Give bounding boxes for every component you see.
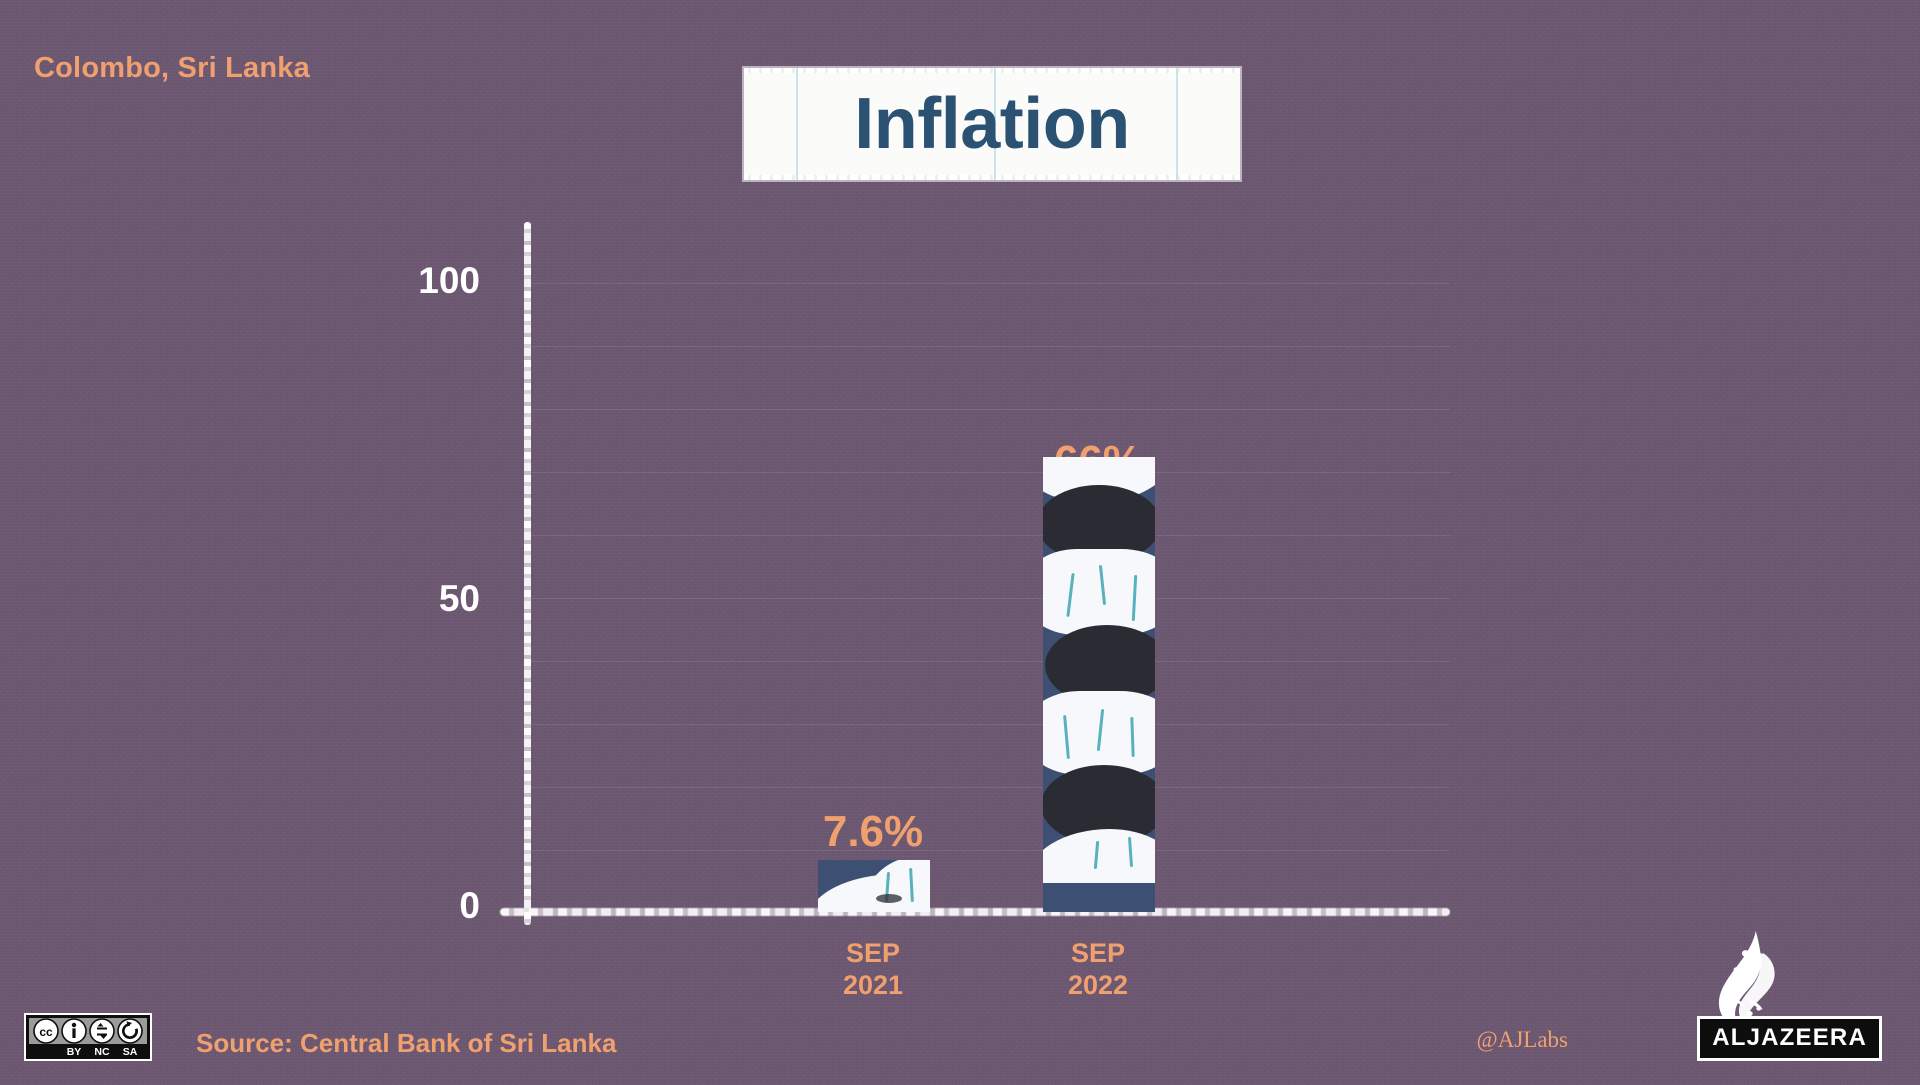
y-axis-tick-50: 50: [360, 578, 480, 620]
social-handle: @AJLabs: [1477, 1027, 1568, 1053]
y-axis-tick-0: 0: [360, 885, 480, 927]
gridline: [530, 535, 1450, 536]
y-axis-line: [524, 222, 531, 925]
svg-text:SA: SA: [123, 1046, 138, 1058]
gridline: [530, 850, 1450, 851]
bar-texture: [818, 860, 930, 912]
x-axis-label-2022: SEP 2022: [988, 938, 1208, 1002]
x-axis-label-2022-month: SEP: [988, 938, 1208, 970]
gridline: [530, 598, 1450, 599]
gridline: [530, 346, 1450, 347]
x-axis-label-2021-month: SEP: [763, 938, 983, 970]
x-axis-label-2021-year: 2021: [763, 970, 983, 1002]
x-axis-label-2021: SEP 2021: [763, 938, 983, 1002]
infographic-stage: Colombo, Sri Lanka Inflation 100 50 0 7.…: [0, 0, 1920, 1085]
bar-sep-2022[interactable]: [1043, 457, 1155, 912]
gridline: [530, 724, 1450, 725]
svg-text:NC: NC: [94, 1046, 110, 1058]
gridline: [530, 787, 1450, 788]
bar-value-label-2021: 7.6%: [763, 810, 983, 854]
al-jazeera-wordmark: ALJAZEERA: [1697, 1016, 1882, 1061]
bar-sep-2021[interactable]: [818, 860, 930, 912]
bar-texture: [1043, 457, 1155, 912]
svg-text:BY: BY: [67, 1046, 82, 1058]
creative-commons-badge: cc BY NC SA: [24, 1013, 152, 1061]
x-axis-label-2022-year: 2022: [988, 970, 1208, 1002]
chart-title: Inflation: [854, 88, 1129, 160]
source-attribution: Source: Central Bank of Sri Lanka: [196, 1028, 616, 1059]
y-axis-tick-100: 100: [360, 260, 480, 302]
gridline: [530, 661, 1450, 662]
x-axis-baseline: [500, 908, 1450, 916]
cc-license-icon: cc BY NC SA: [26, 1015, 150, 1059]
gridline: [530, 409, 1450, 410]
svg-text:cc: cc: [39, 1025, 53, 1039]
gridline: [530, 283, 1450, 284]
